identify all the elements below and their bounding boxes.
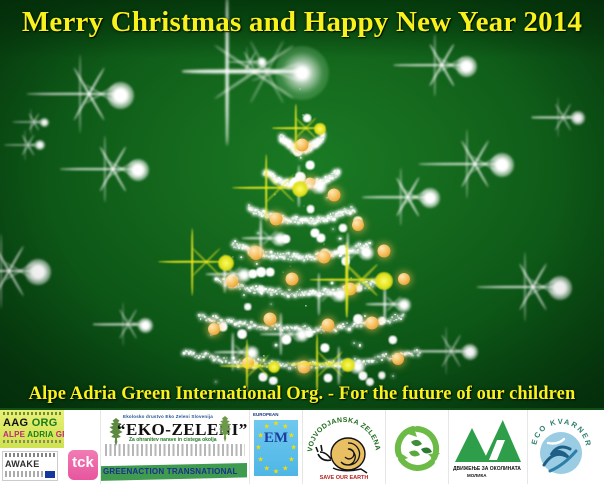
- tree-garland-sparkle: [370, 243, 372, 245]
- tree-garland-sparkle: [335, 330, 337, 332]
- tree-sparkle: [353, 342, 355, 344]
- tree-garland-sparkle: [300, 295, 301, 296]
- tree-sparkle: [270, 304, 272, 306]
- tree-garland-sparkle: [288, 289, 290, 291]
- tree-garland-sparkle: [273, 367, 274, 368]
- tree-garland-sparkle: [338, 171, 340, 173]
- tree-garland-sparkle: [308, 293, 311, 296]
- tree-sparkle: [290, 265, 291, 266]
- tree-garland-sparkle: [354, 251, 355, 252]
- tree-garland-sparkle: [201, 353, 203, 355]
- tree-sparkle: [300, 157, 302, 159]
- tree-garland-sparkle: [199, 355, 201, 357]
- tree-bauble: [286, 273, 299, 286]
- tree-garland-sparkle: [363, 247, 365, 249]
- tree-bauble: [298, 361, 311, 374]
- tree-garland-sparkle: [327, 179, 329, 181]
- tree-garland-sparkle: [313, 361, 316, 364]
- tree-garland-sparkle: [300, 181, 302, 183]
- tree-garland-sparkle: [303, 294, 305, 296]
- tree-garland-sparkle: [275, 363, 277, 365]
- tree-garland-sparkle: [283, 253, 285, 255]
- tree-sparkle: [391, 338, 393, 340]
- tree-garland-sparkle: [349, 362, 350, 363]
- tree-garland-sparkle: [289, 330, 291, 332]
- tree-garland-sparkle: [355, 362, 357, 364]
- tree-garland-sparkle: [287, 327, 289, 329]
- tree-garland-sparkle: [336, 293, 338, 295]
- tree-garland-sparkle: [283, 135, 285, 137]
- tree-garland-sparkle: [255, 285, 257, 287]
- tree-garland-sparkle: [283, 294, 284, 295]
- tree-garland-sparkle: [339, 365, 341, 367]
- tree-garland-sparkle: [321, 140, 322, 141]
- tree-garland-sparkle: [370, 283, 373, 286]
- eko-slogan: Za ohranitev narave in cistega okolja: [129, 437, 217, 443]
- page-title: Merry Christmas and Happy New Year 2014: [0, 6, 604, 39]
- tree-garland-sparkle: [373, 286, 374, 287]
- awake-topline: [5, 453, 55, 457]
- tree-garland-sparkle: [239, 288, 241, 290]
- tree-sparkle: [310, 208, 312, 210]
- tree-garland-sparkle: [216, 355, 219, 358]
- tree-garland-sparkle: [255, 364, 258, 367]
- tree-garland-sparkle: [332, 212, 334, 214]
- tree-garland-sparkle: [375, 357, 376, 358]
- tree-garland-sparkle: [288, 252, 290, 254]
- aag-fineprint: [3, 440, 61, 443]
- mountain-icon: [455, 428, 489, 462]
- tree-garland-sparkle: [225, 322, 226, 323]
- tree-garland-sparkle: [238, 247, 240, 249]
- globe-wave-emblem-icon: ECO KVARNER: [530, 413, 592, 481]
- tree-sparkle: [257, 232, 260, 235]
- tree-garland-sparkle: [396, 319, 397, 320]
- tree-sparkle: [302, 115, 303, 116]
- logo-dvizenje-za-okolinata[interactable]: ДВИЖЕЊЕ ЗА ОКОЛИНАТА МОЛИКА: [448, 410, 527, 484]
- tree-sparkle: [251, 273, 253, 275]
- tree-garland-sparkle: [237, 361, 239, 363]
- tree-garland-sparkle: [310, 366, 313, 369]
- tree-garland-sparkle: [209, 356, 211, 358]
- tree-garland-sparkle: [323, 136, 324, 137]
- tree-garland-sparkle: [287, 258, 288, 259]
- tree-garland-sparkle: [358, 321, 360, 323]
- tree-garland-sparkle: [295, 367, 297, 369]
- tree-sparkle: [283, 272, 284, 273]
- tree-sparkle: [263, 355, 264, 356]
- tree-garland-sparkle: [222, 361, 224, 363]
- tree-garland-sparkle: [345, 361, 348, 364]
- tree-garland-sparkle: [239, 359, 241, 361]
- tree-garland-sparkle: [267, 251, 268, 252]
- tree-bauble: [249, 246, 263, 260]
- tree-sparkle: [304, 206, 305, 207]
- tree-garland-sparkle: [299, 289, 301, 291]
- tree-sparkle: [362, 375, 364, 377]
- tree-garland-sparkle: [333, 218, 336, 221]
- tree-garland-sparkle: [285, 328, 286, 329]
- tree-garland-sparkle: [322, 138, 324, 140]
- tree-garland-sparkle: [278, 324, 280, 326]
- tree-garland-sparkle: [307, 259, 309, 261]
- greenaction-band: GREENACTION TRANSNATIONAL: [101, 458, 249, 484]
- tree-garland-sparkle: [385, 353, 387, 355]
- tree-garland-sparkle: [304, 325, 306, 327]
- tree-bauble: [208, 323, 220, 335]
- tree-garland-sparkle: [294, 259, 295, 260]
- card-scene: Merry Christmas and Happy New Year 2014 …: [0, 0, 604, 408]
- tree-sparkle: [338, 237, 341, 240]
- tree-sparkle: [324, 346, 326, 348]
- tree-garland-sparkle: [301, 331, 303, 333]
- tree-sparkle: [321, 333, 322, 334]
- tree-garland-sparkle: [311, 259, 312, 260]
- tree-garland-sparkle: [304, 260, 306, 262]
- tree-bauble: [226, 275, 239, 288]
- tree-sparkle: [221, 326, 223, 328]
- tree-sparkle: [309, 164, 311, 166]
- tree-sparkle: [274, 344, 277, 347]
- tree-garland-sparkle: [232, 242, 234, 244]
- tree-garland-sparkle: [392, 317, 394, 319]
- tree-garland-sparkle: [365, 281, 367, 283]
- tree-garland-sparkle: [229, 362, 232, 365]
- tree-sparkle: [306, 306, 307, 307]
- tree-garland-sparkle: [320, 221, 322, 223]
- tree-garland-sparkle: [353, 358, 355, 360]
- tree-garland-sparkle: [256, 288, 258, 290]
- tree-garland-sparkle: [222, 322, 223, 323]
- tree-garland-sparkle: [373, 360, 375, 362]
- tree-bauble: [305, 178, 316, 189]
- tree-garland-sparkle: [243, 322, 246, 325]
- tree-garland-sparkle: [183, 352, 186, 355]
- tree-garland-sparkle: [341, 327, 343, 329]
- tree-garland-sparkle: [363, 360, 365, 362]
- tree-garland-sparkle: [354, 211, 356, 213]
- christmas-greeting-card: Merry Christmas and Happy New Year 2014 …: [0, 0, 604, 484]
- tree-garland-sparkle: [238, 325, 240, 327]
- tree-sparkle: [299, 88, 300, 89]
- tree-garland-sparkle: [197, 357, 199, 359]
- tree-garland-sparkle: [202, 356, 204, 358]
- tree-garland-sparkle: [322, 132, 324, 134]
- tree-sparkle: [320, 237, 322, 239]
- tree-garland-sparkle: [259, 285, 261, 287]
- tree-garland-sparkle: [352, 363, 355, 366]
- tree-garland-sparkle: [277, 326, 279, 328]
- tree-garland-sparkle: [205, 319, 206, 320]
- tree-garland-sparkle: [221, 283, 223, 285]
- eko-bodytext-lines: [105, 444, 245, 456]
- logo-em-european[interactable]: EUROPEAN ★ ★ ★ ★ ★ ★ ★ ★ ★ ★ ★ ★ EM: [249, 410, 302, 484]
- tree-garland-sparkle: [315, 367, 317, 369]
- tree-garland-sparkle: [341, 292, 344, 295]
- tree-garland-sparkle: [359, 324, 362, 327]
- tree-garland-sparkle: [260, 359, 262, 361]
- tree-garland-sparkle: [335, 176, 337, 178]
- christmas-tree: [152, 67, 452, 397]
- tree-garland-sparkle: [359, 283, 361, 285]
- tree-garland-sparkle: [322, 292, 324, 294]
- tree-garland-sparkle: [324, 365, 325, 366]
- tree-bauble: [352, 219, 364, 231]
- tree-garland-sparkle: [302, 255, 303, 256]
- greenaction-banner: GREENACTION TRANSNATIONAL: [100, 463, 247, 481]
- tree-garland-sparkle: [298, 222, 300, 224]
- tree-garland-sparkle: [276, 293, 278, 295]
- tree-sparkle: [300, 177, 302, 179]
- tree-sparkle: [347, 255, 350, 258]
- tree-garland-sparkle: [400, 318, 402, 320]
- tree-sparkle: [247, 306, 248, 307]
- tree-garland-sparkle: [342, 214, 344, 216]
- awake-wordmark: AWAKE: [5, 459, 40, 469]
- tree-garland-sparkle: [296, 216, 298, 218]
- tree-sparkle: [318, 239, 320, 241]
- tree-garland-sparkle: [416, 349, 418, 351]
- tree-garland-sparkle: [360, 364, 361, 365]
- tree-sparkle: [285, 238, 287, 240]
- tree-garland-sparkle: [261, 292, 264, 295]
- tree-sparkle: [273, 380, 275, 382]
- tree-garland-sparkle: [281, 290, 282, 291]
- tree-garland-sparkle: [419, 352, 421, 354]
- tree-bauble: [270, 213, 283, 226]
- tree-garland-sparkle: [346, 322, 348, 324]
- tree-garland-sparkle: [382, 317, 384, 319]
- tree-garland-sparkle: [367, 246, 369, 248]
- em-wordmark: EM: [250, 430, 302, 447]
- tree-garland-sparkle: [245, 289, 247, 291]
- tree-garland-sparkle: [376, 361, 377, 362]
- logo-eco-kvarner[interactable]: ECO KVARNER: [527, 410, 604, 484]
- tree-garland-sparkle: [256, 213, 258, 215]
- tree-garland-sparkle: [364, 287, 365, 288]
- svg-text:SAVE OUR EARTH: SAVE OUR EARTH: [320, 475, 369, 481]
- snail-emblem-icon: VOJVODJANSKA ZELENA INICIJATIVA SAVE OUR…: [304, 412, 384, 484]
- tree-garland-sparkle: [380, 323, 382, 325]
- tree-bauble: [378, 245, 391, 258]
- tree-garland-sparkle: [342, 252, 344, 254]
- tree-sparkle: [256, 263, 258, 265]
- tree-garland-sparkle: [357, 249, 359, 251]
- tree-garland-sparkle: [200, 318, 202, 320]
- logo-awake[interactable]: AWAKE: [2, 451, 58, 481]
- tree-sparkle: [350, 277, 351, 278]
- tree-garland-sparkle: [309, 149, 311, 151]
- tree-sparkle: [327, 377, 329, 379]
- tree-garland-sparkle: [273, 325, 274, 326]
- tree-garland-sparkle: [358, 360, 361, 363]
- tree-bauble: [328, 189, 341, 202]
- tree-garland-sparkle: [227, 357, 228, 358]
- tree-garland-sparkle: [368, 287, 370, 289]
- tree-garland-sparkle: [413, 355, 415, 357]
- snail-icon: [316, 438, 367, 473]
- tree-garland-sparkle: [232, 357, 235, 360]
- tree-sparkle: [253, 292, 255, 294]
- tree-sparkle: [369, 381, 371, 383]
- tree-garland-sparkle: [204, 316, 206, 318]
- tree-garland-sparkle: [294, 221, 296, 223]
- tree-garland-sparkle: [342, 211, 344, 213]
- tree-garland-sparkle: [352, 324, 354, 326]
- tree-garland-sparkle: [260, 329, 262, 331]
- tree-sparkle: [364, 315, 366, 317]
- partner-logo-strip: AAG ORG ALPE ADRIA GREEN AWAKE tck Ekolo…: [0, 408, 604, 484]
- tree-garland-sparkle: [267, 327, 269, 329]
- tree-garland-sparkle: [381, 359, 383, 361]
- tree-garland-sparkle: [326, 220, 328, 222]
- tree-garland-sparkle: [287, 182, 289, 184]
- tree-garland-sparkle: [318, 294, 320, 296]
- em-header-text: EUROPEAN: [253, 412, 279, 417]
- dvizenje-line2: МОЛИКА: [467, 473, 487, 478]
- tree-sparkle: [306, 118, 308, 120]
- recycle-arrows-icon: [390, 422, 444, 472]
- logo-tck[interactable]: tck: [64, 410, 100, 484]
- tree-garland-sparkle: [266, 290, 269, 293]
- tree-garland-sparkle: [385, 283, 387, 285]
- eko-header-text: Ekolosko drustvo Eko Zeleni Slovenija: [123, 414, 213, 419]
- tree-sparkle: [328, 366, 330, 368]
- tree-garland-sparkle: [333, 360, 335, 362]
- logo-vojvodjanska-zelena-inicijativa[interactable]: VOJVODJANSKA ZELENA INICIJATIVA SAVE OUR…: [302, 410, 385, 484]
- tree-garland-sparkle: [319, 143, 321, 145]
- logo-recycling[interactable]: [385, 410, 448, 484]
- tree-garland-sparkle: [297, 291, 299, 293]
- tree-sparkle: [285, 338, 287, 340]
- tree-garland-sparkle: [337, 175, 338, 176]
- tree-sparkle: [270, 271, 272, 273]
- tree-garland-sparkle: [349, 212, 351, 214]
- tree-garland-sparkle: [274, 328, 276, 330]
- tree-sparkle: [342, 227, 344, 229]
- tree-garland-sparkle: [274, 253, 276, 255]
- tree-garland-sparkle: [339, 288, 340, 289]
- tree-bauble: [296, 139, 309, 152]
- dvizenje-line1: ДВИЖЕЊЕ ЗА ОКОЛИНАТА: [453, 466, 521, 472]
- tree-garland-sparkle: [243, 285, 245, 287]
- tree-garland-sparkle: [384, 356, 386, 358]
- tree-garland-sparkle: [417, 354, 420, 357]
- tree-garland-sparkle: [270, 330, 271, 331]
- tree-garland-sparkle: [349, 328, 352, 331]
- tree-garland-sparkle: [320, 366, 321, 367]
- tree-sparkle: [260, 271, 263, 274]
- tree-bauble: [344, 283, 357, 296]
- tree-garland-sparkle: [247, 324, 248, 325]
- tree-garland-sparkle: [290, 368, 292, 370]
- tree-garland-sparkle: [313, 330, 316, 333]
- tree-bauble: [264, 313, 277, 326]
- tree-garland-sparkle: [216, 316, 219, 319]
- tree-garland-sparkle: [263, 359, 265, 361]
- tree-sparkle: [345, 260, 347, 262]
- logo-eko-zeleni[interactable]: Ekolosko drustvo Eko Zeleni Slovenija “E…: [100, 410, 249, 484]
- tree-garland-sparkle: [394, 314, 396, 316]
- tree-garland-sparkle: [270, 251, 273, 254]
- tree-garland-sparkle: [192, 352, 195, 355]
- tree-garland-sparkle: [386, 279, 388, 281]
- tree-sparkle: [314, 232, 316, 234]
- tree-garland-sparkle: [393, 320, 395, 322]
- card-tagline: Alpe Adria Green International Org. - Fo…: [0, 384, 604, 405]
- tree-sparkle: [241, 333, 244, 336]
- tree-garland-sparkle: [250, 321, 252, 323]
- tree-garland-sparkle: [388, 321, 390, 323]
- eu-flag-icon: [45, 471, 55, 478]
- tree-garland-sparkle: [234, 241, 236, 243]
- tree-sparkle: [324, 243, 325, 244]
- tree-garland-sparkle: [331, 362, 333, 364]
- tree-garland-sparkle: [266, 366, 268, 368]
- tree-sparkle: [262, 376, 264, 378]
- tree-sparkle: [275, 194, 276, 195]
- tck-tile: tck: [68, 450, 98, 480]
- eu-stars-ring-icon: ★ ★ ★ ★ ★ ★ ★ ★ ★ ★ ★ ★: [254, 420, 298, 476]
- tree-garland-sparkle: [356, 246, 357, 247]
- tree-bauble: [322, 319, 335, 332]
- tck-wordmark: tck: [68, 454, 98, 471]
- tree-garland-sparkle: [342, 323, 344, 325]
- aag-microtext-line: [3, 412, 61, 415]
- tree-garland-sparkle: [207, 353, 209, 355]
- aag-subtitle: ALPE ADRIA GREEN: [3, 430, 64, 439]
- tree-garland-sparkle: [365, 363, 367, 365]
- tree-garland-sparkle: [270, 291, 273, 294]
- tree-garland-sparkle: [287, 222, 289, 224]
- tree-garland-sparkle: [295, 218, 297, 220]
- tree-bauble: [318, 251, 331, 264]
- tree-garland-sparkle: [348, 253, 350, 255]
- tree-garland-sparkle: [302, 222, 304, 224]
- tree-garland-sparkle: [282, 329, 284, 331]
- tree-garland-sparkle: [360, 243, 362, 245]
- tree-sparkle: [215, 381, 216, 382]
- tree-garland-sparkle: [283, 257, 286, 260]
- tree-sparkle: [216, 362, 217, 363]
- aag-wordmark: AAG ORG: [3, 417, 58, 429]
- tree-sparkle: [356, 317, 359, 320]
- tree-garland-sparkle: [401, 314, 404, 317]
- tree-sparkle: [237, 365, 239, 367]
- tree-sparkle: [332, 228, 334, 230]
- tree-garland-sparkle: [224, 360, 226, 362]
- tree-sparkle: [283, 340, 286, 343]
- tree-sparkle: [271, 259, 272, 260]
- tree-sparkle: [381, 375, 382, 376]
- tree-garland-sparkle: [233, 319, 235, 321]
- tree-garland-sparkle: [332, 289, 335, 292]
- tree-garland-sparkle: [294, 295, 296, 297]
- tree-garland-sparkle: [288, 179, 290, 181]
- tree-garland-sparkle: [305, 330, 308, 333]
- tree-garland-sparkle: [264, 362, 267, 365]
- tree-garland-sparkle: [355, 325, 358, 328]
- tree-sparkle: [232, 257, 233, 258]
- tree-garland-sparkle: [290, 259, 292, 261]
- logo-alpe-adria-green[interactable]: AAG ORG ALPE ADRIA GREEN AWAKE: [0, 410, 64, 484]
- tree-sparkle: [343, 244, 345, 246]
- tree-garland-sparkle: [359, 287, 362, 290]
- tree-bauble: [242, 357, 254, 369]
- tree-garland-sparkle: [249, 290, 251, 292]
- tree-garland-sparkle: [345, 328, 346, 329]
- tree-sparkle: [243, 294, 245, 296]
